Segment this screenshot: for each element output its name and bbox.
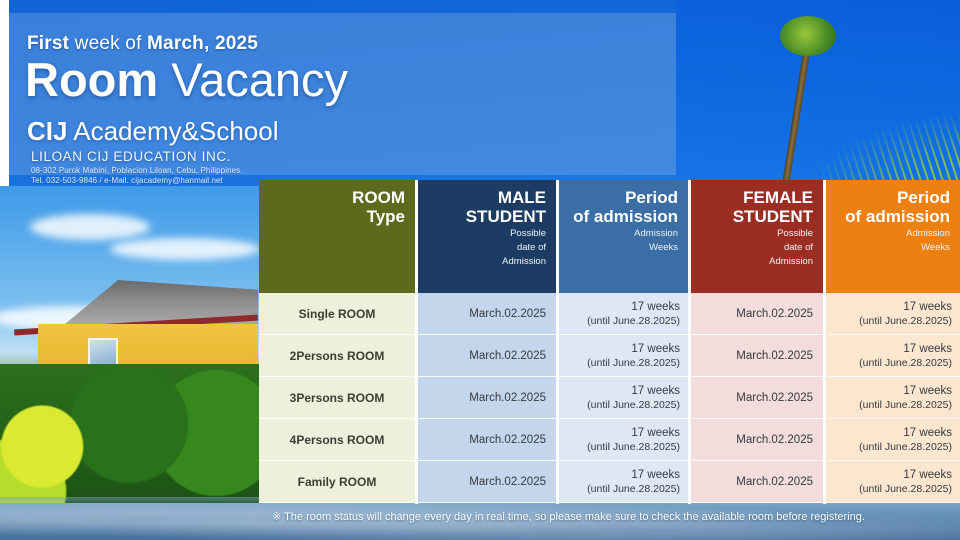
cell-female-weeks: 17 weeks — [859, 342, 952, 356]
left-white-gutter — [0, 0, 9, 186]
column-divider — [415, 180, 418, 504]
cell-male-date: March.02.2025 — [418, 293, 556, 335]
palm-fronds — [750, 52, 960, 186]
cell-female-until: (until June.28.2025) — [859, 441, 952, 454]
cloud-shape — [110, 238, 259, 260]
row-divider — [259, 502, 960, 503]
company-address: 08-302 Purok Mabini, Poblacion Liloan, C… — [31, 166, 243, 175]
week-label-bold: First — [27, 33, 69, 54]
cell-male-weeks: 17 weeks — [587, 300, 680, 314]
company-contact: Tel. 032-503-9846 / e-Mail. cijacademy@h… — [31, 176, 223, 185]
header-male-line2: STUDENT — [426, 207, 546, 226]
table-row: 4Persons ROOMMarch.02.202517 weeks(until… — [259, 419, 960, 461]
cell-female-date: March.02.2025 — [690, 377, 823, 419]
cell-male-until: (until June.28.2025) — [587, 315, 680, 328]
cell-male-period: 17 weeks(until June.28.2025) — [559, 377, 688, 419]
room-vacancy-table: ROOM Type MALE STUDENT Possible date of … — [259, 180, 960, 504]
cell-female-weeks: 17 weeks — [859, 300, 952, 314]
table-row: Single ROOMMarch.02.202517 weeks(until J… — [259, 293, 960, 335]
palm-crown — [780, 16, 836, 56]
cell-male-date: March.02.2025 — [418, 461, 556, 503]
header-male-period-line1: Period — [567, 188, 678, 207]
page-title-bold: Room — [25, 53, 158, 106]
palm-tree-photo — [676, 0, 960, 186]
cell-female-until: (until June.28.2025) — [859, 315, 952, 328]
company-name: LILOAN CIJ EDUCATION INC. — [31, 149, 231, 164]
cell-male-period: 17 weeks(until June.28.2025) — [559, 461, 688, 503]
cell-female-weeks: 17 weeks — [859, 384, 952, 398]
header-male-sub2: date of — [426, 242, 546, 254]
cell-female-period: 17 weeks(until June.28.2025) — [826, 335, 960, 377]
header-room-line1: ROOM — [267, 188, 405, 207]
school-name-rest: Academy&School — [67, 116, 278, 146]
school-name: CIJ Academy&School — [27, 116, 278, 147]
cell-female-date: March.02.2025 — [690, 335, 823, 377]
cell-male-weeks: 17 weeks — [587, 426, 680, 440]
cell-male-date: March.02.2025 — [418, 419, 556, 461]
cell-male-until: (until June.28.2025) — [587, 441, 680, 454]
cell-room-type: 3Persons ROOM — [259, 377, 415, 419]
cloud-shape — [30, 214, 150, 240]
cell-male-date: March.02.2025 — [418, 335, 556, 377]
cell-female-period: 17 weeks(until June.28.2025) — [826, 461, 960, 503]
header-male-period-sub2: Weeks — [567, 242, 678, 254]
header-cell-male-period: Period of admission Admission Weeks — [559, 180, 688, 293]
cell-male-until: (until June.28.2025) — [587, 357, 680, 370]
header-female-period-sub2: Weeks — [834, 242, 950, 254]
school-name-bold: CIJ — [27, 116, 67, 146]
header-male-period-line2: of admission — [567, 207, 678, 226]
header-female-line1: FEMALE — [698, 188, 813, 207]
cell-male-date: March.02.2025 — [418, 377, 556, 419]
table-body: Single ROOMMarch.02.202517 weeks(until J… — [259, 293, 960, 503]
header-cell-female-period: Period of admission Admission Weeks — [826, 180, 960, 293]
slide-canvas: First week of March, 2025 Room Vacancy C… — [0, 0, 960, 540]
cell-female-until: (until June.28.2025) — [859, 483, 952, 496]
page-title: Room Vacancy — [25, 55, 348, 104]
header-male-sub3: Admission — [426, 256, 546, 268]
cell-room-type: 2Persons ROOM — [259, 335, 415, 377]
title-overlay-panel: First week of March, 2025 Room Vacancy C… — [9, 13, 676, 175]
header-female-period-line1: Period — [834, 188, 950, 207]
cell-female-until: (until June.28.2025) — [859, 357, 952, 370]
cell-female-weeks: 17 weeks — [859, 468, 952, 482]
column-divider — [688, 180, 691, 504]
week-label: First week of March, 2025 — [27, 33, 258, 55]
footer-note: ※ The room status will change every day … — [272, 510, 865, 523]
cell-male-period: 17 weeks(until June.28.2025) — [559, 293, 688, 335]
header-cell-male-student: MALE STUDENT Possible date of Admission — [418, 180, 556, 293]
header-female-period-sub1: Admission — [834, 228, 950, 240]
header-female-line2: STUDENT — [698, 207, 813, 226]
cell-male-weeks: 17 weeks — [587, 342, 680, 356]
cell-female-period: 17 weeks(until June.28.2025) — [826, 377, 960, 419]
cell-female-until: (until June.28.2025) — [859, 399, 952, 412]
cell-male-weeks: 17 weeks — [587, 384, 680, 398]
cell-female-period: 17 weeks(until June.28.2025) — [826, 419, 960, 461]
header-cell-room-type: ROOM Type — [259, 180, 415, 293]
cell-female-date: March.02.2025 — [690, 419, 823, 461]
week-label-mid: week of — [69, 33, 147, 54]
table-row: Family ROOMMarch.02.202517 weeks(until J… — [259, 461, 960, 503]
cell-room-type: Family ROOM — [259, 461, 415, 503]
cell-room-type: 4Persons ROOM — [259, 419, 415, 461]
cell-female-date: March.02.2025 — [690, 461, 823, 503]
header-male-period-sub1: Admission — [567, 228, 678, 240]
column-divider — [823, 180, 826, 504]
cell-female-weeks: 17 weeks — [859, 426, 952, 440]
header-room-line2: Type — [267, 207, 405, 226]
table-header-row: ROOM Type MALE STUDENT Possible date of … — [259, 180, 960, 293]
cell-male-period: 17 weeks(until June.28.2025) — [559, 419, 688, 461]
cell-female-period: 17 weeks(until June.28.2025) — [826, 293, 960, 335]
column-divider — [556, 180, 559, 504]
header-male-line1: MALE — [426, 188, 546, 207]
week-label-date: March, 2025 — [147, 33, 258, 54]
header-male-sub1: Possible — [426, 228, 546, 240]
header-cell-female-student: FEMALE STUDENT Possible date of Admissio… — [690, 180, 823, 293]
table-row: 3Persons ROOMMarch.02.202517 weeks(until… — [259, 377, 960, 419]
garden-foliage — [0, 364, 259, 504]
cell-male-until: (until June.28.2025) — [587, 399, 680, 412]
table-row: 2Persons ROOMMarch.02.202517 weeks(until… — [259, 335, 960, 377]
cell-male-weeks: 17 weeks — [587, 468, 680, 482]
header-female-sub1: Possible — [698, 228, 813, 240]
header-female-sub2: date of — [698, 242, 813, 254]
header-female-sub3: Admission — [698, 256, 813, 268]
campus-building-photo — [0, 186, 259, 504]
page-title-rest: Vacancy — [158, 53, 348, 106]
cell-male-until: (until June.28.2025) — [587, 483, 680, 496]
cell-female-date: March.02.2025 — [690, 293, 823, 335]
cell-male-period: 17 weeks(until June.28.2025) — [559, 335, 688, 377]
header-female-period-line2: of admission — [834, 207, 950, 226]
cell-room-type: Single ROOM — [259, 293, 415, 335]
